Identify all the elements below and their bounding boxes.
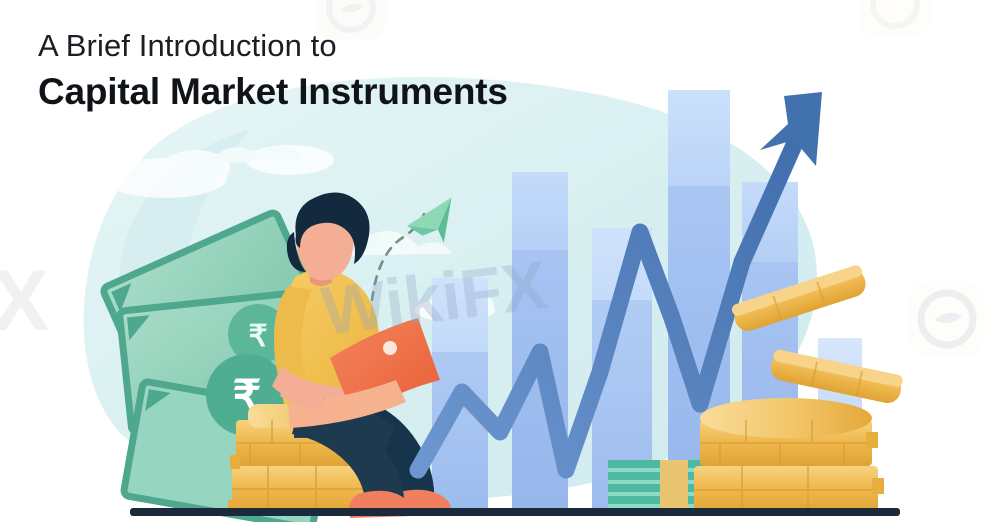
svg-text:₹: ₹ (248, 320, 267, 353)
laptop-logo (383, 341, 397, 355)
svg-text:X: X (0, 253, 49, 349)
wikifx-logo-topright-watermark (860, 0, 930, 36)
ground-line (130, 508, 900, 516)
wikifx-logo-right-watermark (910, 282, 984, 356)
coin-stack-right (694, 398, 884, 514)
wikifx-logo-top-watermark (316, 0, 386, 40)
banner-root: ₹ ₹ (0, 0, 1000, 522)
capital-market-illustration: ₹ ₹ (0, 0, 1000, 522)
banknote-band-left (660, 460, 688, 514)
coin-stack-right-top (700, 398, 872, 438)
wikifx-left-edge-watermark: X (0, 253, 49, 349)
